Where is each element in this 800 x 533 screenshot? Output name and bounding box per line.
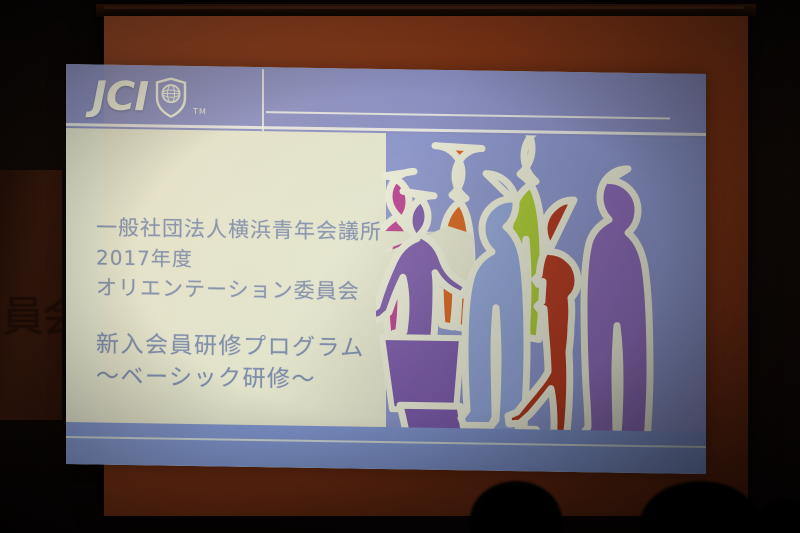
title-line-3: オリエンテーション委員会: [96, 272, 476, 308]
jci-logo: JCI TM: [92, 72, 207, 122]
header-rule-upper: [266, 111, 670, 119]
jci-shield-globe-icon: [155, 77, 187, 118]
figure-purple-right: [580, 168, 650, 451]
slide-header-band: JCI TM: [66, 64, 706, 138]
subtitle-line-2: 〜ベーシック研修〜: [96, 360, 476, 398]
footer-rule: [66, 436, 706, 448]
slide-footer-band: [66, 422, 706, 474]
header-vertical-divider: [262, 69, 264, 131]
screenshot-root: 員会: [0, 0, 800, 533]
wall-calligraphy: 員会: [2, 295, 64, 385]
projector-screen: JCI TM: [104, 16, 748, 516]
presentation-slide: JCI TM: [66, 64, 706, 474]
trademark-label: TM: [193, 107, 207, 116]
jci-wordmark: JCI: [92, 76, 148, 117]
slide-text-block: 一般社団法人横浜青年会議所 2017年度 オリエンテーション委員会 新入会員研修…: [96, 212, 476, 398]
